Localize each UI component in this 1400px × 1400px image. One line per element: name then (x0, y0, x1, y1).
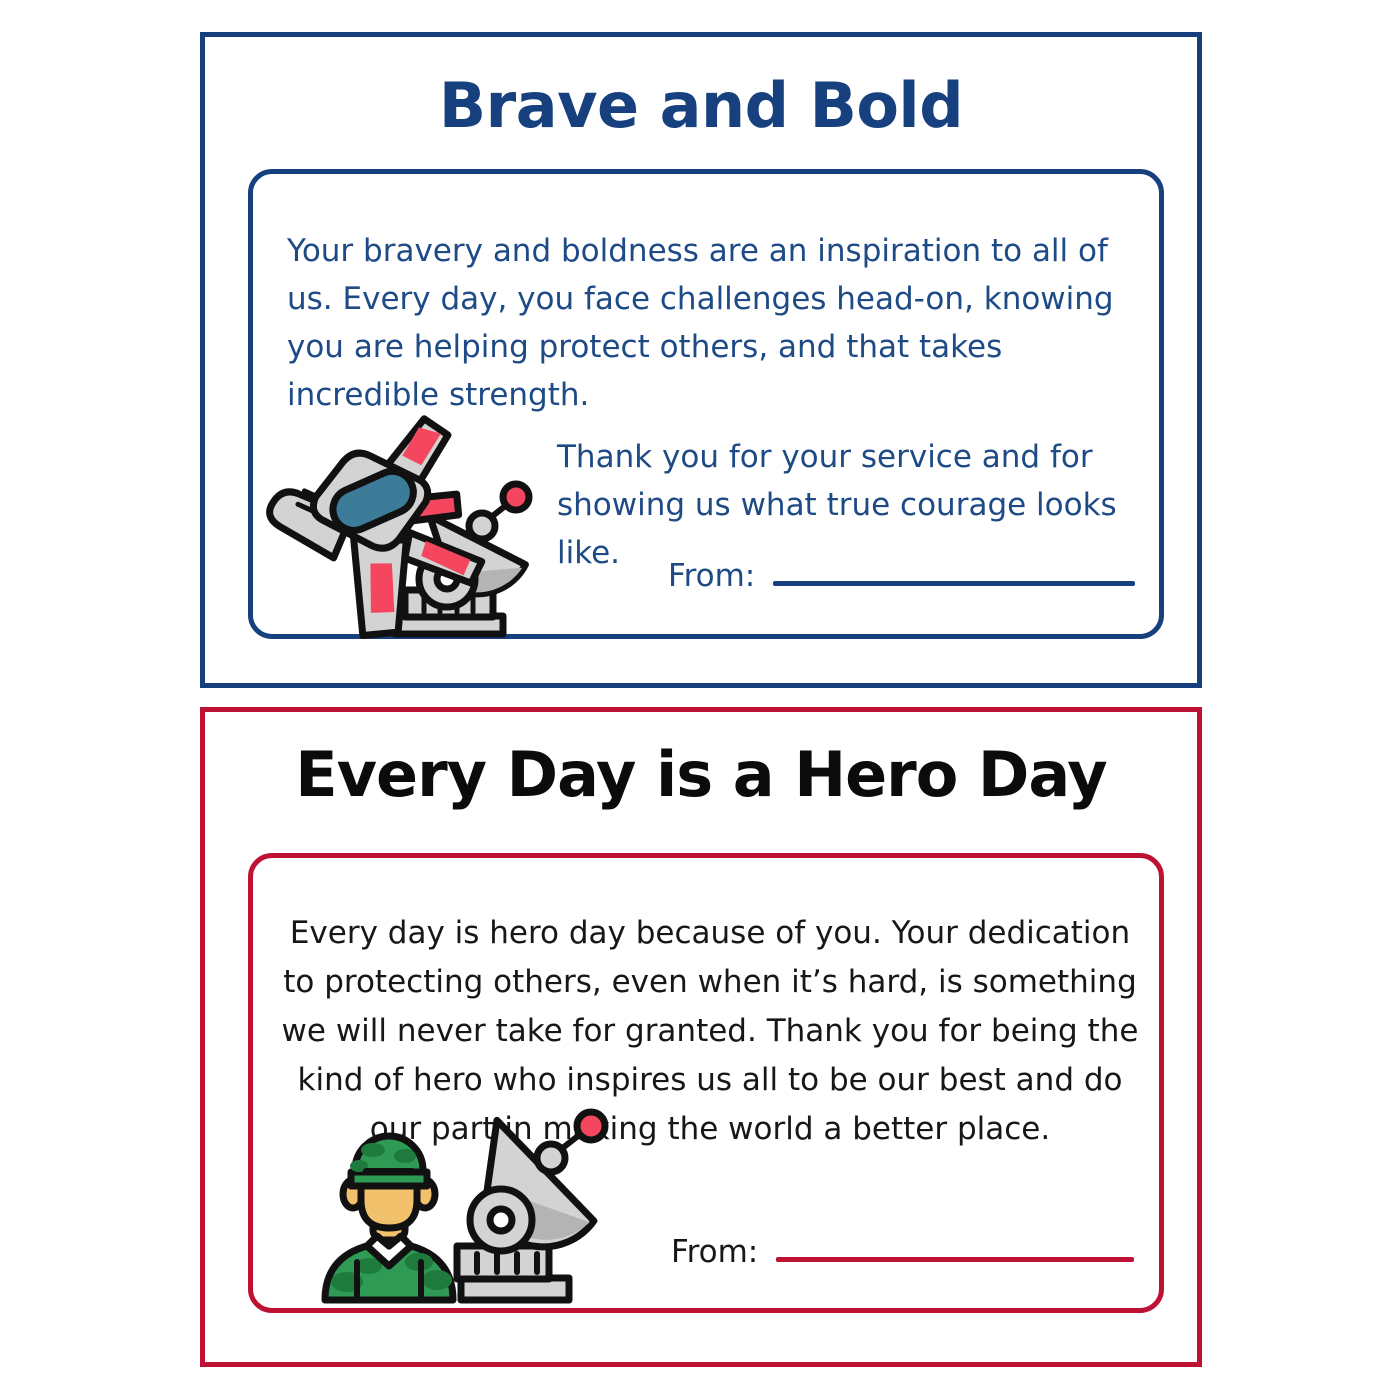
card-paragraph-1-brave-and-bold: Your bravery and boldness are an inspira… (287, 227, 1127, 419)
from-label: From: (671, 1234, 758, 1270)
from-line-brave-and-bold[interactable]: From: (668, 558, 1135, 594)
card-title-every-day-is-a-hero-day: Every Day is a Hero Day (205, 712, 1197, 807)
from-signature-line[interactable] (776, 1257, 1134, 1262)
from-label: From: (668, 558, 755, 594)
from-line-every-day-is-a-hero-day[interactable]: From: (671, 1234, 1134, 1270)
card-paragraph-2-brave-and-bold: Thank you for your service and for showi… (557, 433, 1127, 577)
printable-cards-page: Brave and Bold Your bravery and boldness… (0, 0, 1400, 1400)
soldier-satellite-dish-icon (311, 1110, 621, 1306)
card-body-box-every-day-is-a-hero-day: Every day is hero day because of you. Yo… (248, 853, 1164, 1313)
fighter-jet-satellite-dish-icon (261, 404, 541, 644)
card-every-day-is-a-hero-day: Every Day is a Hero Day Every day is her… (200, 707, 1202, 1367)
card-title-brave-and-bold: Brave and Bold (205, 37, 1197, 138)
card-brave-and-bold: Brave and Bold Your bravery and boldness… (200, 32, 1202, 688)
card-body-box-brave-and-bold: Your bravery and boldness are an inspira… (248, 169, 1164, 639)
from-signature-line[interactable] (773, 581, 1135, 586)
